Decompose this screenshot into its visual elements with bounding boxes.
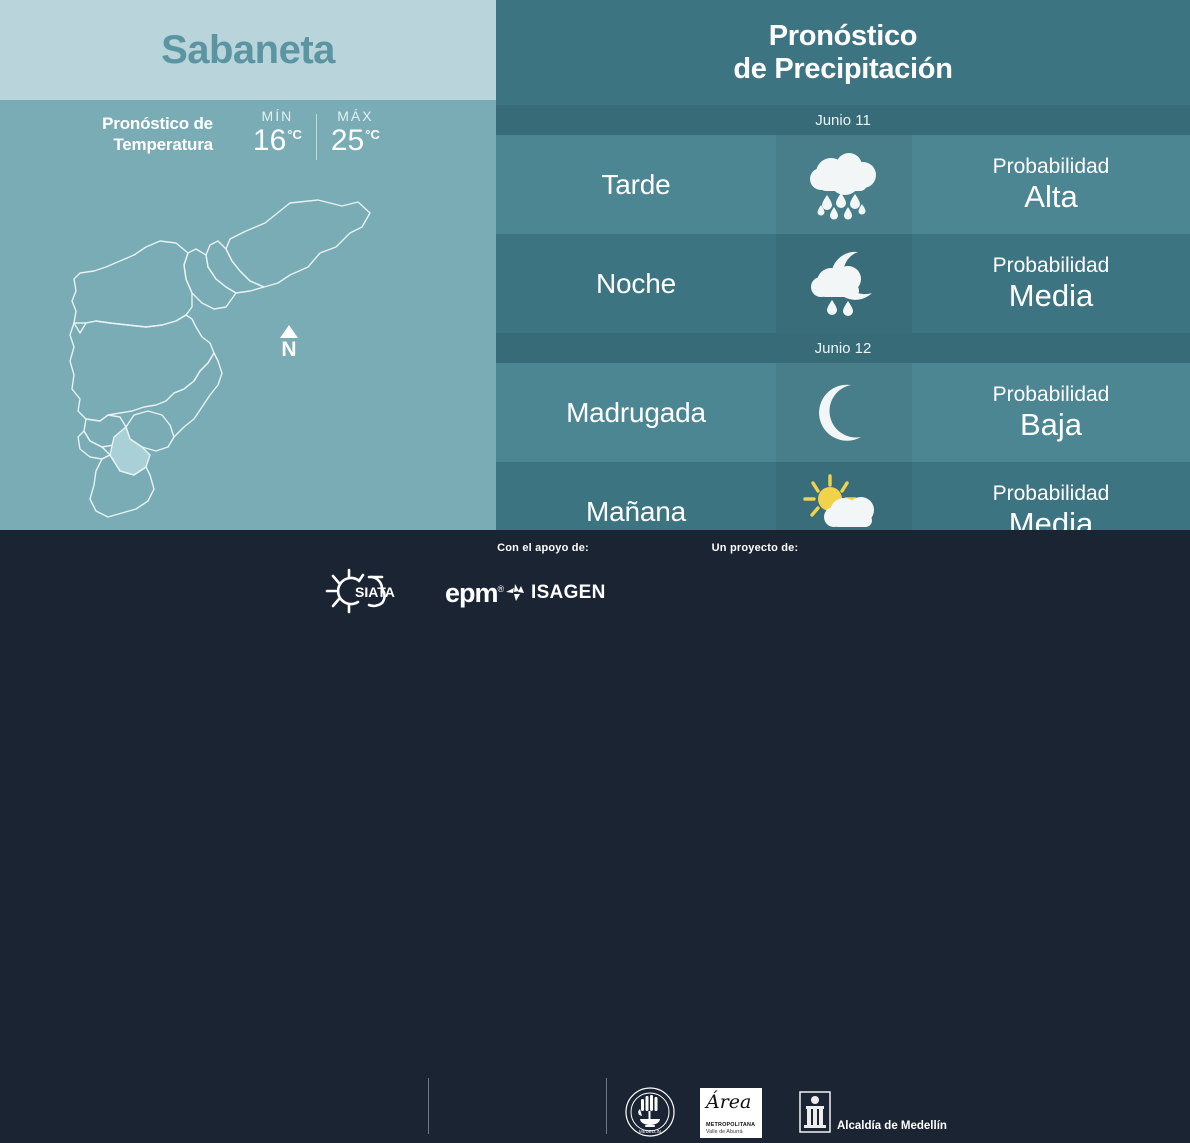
footer: Con el apoyo de: Un proyecto de: — [0, 530, 1190, 620]
min-temperature: MÍN 16°C — [239, 108, 316, 157]
period-label: Noche — [596, 268, 676, 300]
probability-caption: Probabilidad — [993, 254, 1110, 278]
footer-separator-1 — [428, 1078, 429, 1134]
probability-cell: Probabilidad Alta — [912, 135, 1190, 234]
siata-label: SIATA — [355, 584, 395, 600]
period-cell: Tarde — [496, 135, 776, 234]
heavy-rain-cloud-icon — [801, 149, 887, 221]
area-sub2-label: Valle de Aburrá — [706, 1129, 743, 1135]
epm-registered-mark: ® — [498, 584, 504, 594]
siata-logo: SIATA — [325, 568, 417, 619]
max-unit: °C — [365, 127, 380, 142]
forecast-row-tarde: Tarde — [496, 135, 1190, 234]
probability-caption: Probabilidad — [993, 383, 1110, 407]
max-value: 25 — [331, 124, 364, 157]
forecast-title-line1: Pronóstico — [769, 20, 917, 52]
isagen-label: ISAGEN — [531, 582, 606, 604]
area-metropolitana-logo: Área METROPOLITANA Valle de Aburrá — [700, 1088, 762, 1138]
weather-icon-cell — [776, 234, 912, 333]
probability-caption: Probabilidad — [993, 482, 1110, 506]
municipality-medellin — [70, 315, 214, 421]
temperature-label-line1: Pronóstico de — [102, 113, 213, 134]
period-label: Mañana — [586, 496, 686, 528]
date-label: Junio 12 — [815, 340, 872, 357]
min-unit: °C — [287, 127, 302, 142]
period-label: Tarde — [601, 169, 670, 201]
city-header: Sabaneta — [0, 0, 496, 100]
compass-arrow-icon — [280, 325, 298, 338]
municipality-barbosa — [226, 200, 370, 287]
forecast-title-line2: de Precipitación — [733, 53, 952, 85]
temperature-summary: Pronóstico de Temperatura MÍN 16°C MÁX 2… — [0, 108, 496, 160]
probability-value: Alta — [1024, 179, 1077, 215]
temperature-panel: Sabaneta Pronóstico de Temperatura MÍN 1… — [0, 0, 496, 530]
map-svg — [50, 175, 410, 520]
municipality-girardota — [206, 241, 264, 293]
universidad-medellin-logo: MEDELLIN — [624, 1086, 676, 1143]
period-cell: Noche — [496, 234, 776, 333]
udem-label: MEDELLIN — [639, 1129, 661, 1134]
area-script-label: Área — [706, 1091, 751, 1113]
page-title: Sabaneta — [161, 28, 335, 73]
map-eastern-boundary — [174, 353, 222, 437]
min-value-wrap: 16°C — [253, 125, 302, 157]
max-caption: MÁX — [331, 108, 380, 124]
moon-cloud-rain-icon — [801, 248, 887, 320]
date-divider-june-11: Junio 11 — [496, 105, 1190, 135]
max-value-wrap: 25°C — [331, 125, 380, 157]
udem-seal-icon: MEDELLIN — [624, 1086, 676, 1138]
probability-caption: Probabilidad — [993, 155, 1110, 179]
isagen-mark-icon — [505, 583, 527, 603]
weather-icon-cell — [776, 135, 912, 234]
forecast-row-noche: Noche Probabilidad Media — [496, 234, 1190, 333]
min-value: 16 — [253, 124, 286, 157]
weather-infographic: Sabaneta Pronóstico de Temperatura MÍN 1… — [0, 0, 1190, 620]
weather-icon-cell — [776, 363, 912, 462]
probability-value: Baja — [1020, 407, 1082, 443]
valle-de-aburra-map — [50, 175, 410, 520]
municipality-bello — [72, 241, 192, 333]
forecast-row-madrugada: Madrugada Probabilidad Baja — [496, 363, 1190, 462]
compass-north-icon: N — [272, 325, 306, 360]
date-label: Junio 11 — [815, 112, 871, 129]
temperature-label: Pronóstico de Temperatura — [102, 113, 213, 156]
compass-label: N — [272, 339, 306, 360]
probability-value: Media — [1009, 278, 1093, 314]
min-caption: MÍN — [253, 108, 302, 124]
probability-cell: Probabilidad Baja — [912, 363, 1190, 462]
municipality-la-estrella — [78, 431, 110, 459]
isagen-logo: ISAGEN — [505, 582, 606, 604]
temperature-values: MÍN 16°C MÁX 25°C — [239, 108, 394, 160]
probability-cell: Probabilidad Media — [912, 234, 1190, 333]
siata-sun-cloud-icon: SIATA — [325, 568, 417, 614]
area-sub1-label: METROPOLITANA — [706, 1122, 755, 1128]
period-label: Madrugada — [566, 397, 706, 429]
epm-label: epm — [445, 578, 498, 608]
alcaldia-label: Alcaldía de Medellín — [837, 1120, 947, 1134]
project-caption: Un proyecto de: — [625, 542, 885, 554]
precipitation-panel: Pronóstico de Precipitación Junio 11 Tar… — [496, 0, 1190, 530]
crescent-moon-icon — [801, 377, 887, 449]
area-logo-box: Área METROPOLITANA Valle de Aburrá — [700, 1088, 762, 1138]
epm-logo: epm® — [445, 578, 503, 609]
max-temperature: MÁX 25°C — [317, 108, 394, 157]
alcaldia-medellin-logo: Alcaldía de Medellín — [798, 1090, 947, 1134]
period-cell: Madrugada — [496, 363, 776, 462]
footer-separator-2 — [606, 1078, 607, 1134]
forecast-header: Pronóstico de Precipitación — [496, 0, 1190, 105]
date-divider-june-12: Junio 12 — [496, 333, 1190, 363]
temperature-label-line2: Temperatura — [102, 134, 213, 155]
alcaldia-shield-icon — [798, 1090, 832, 1134]
